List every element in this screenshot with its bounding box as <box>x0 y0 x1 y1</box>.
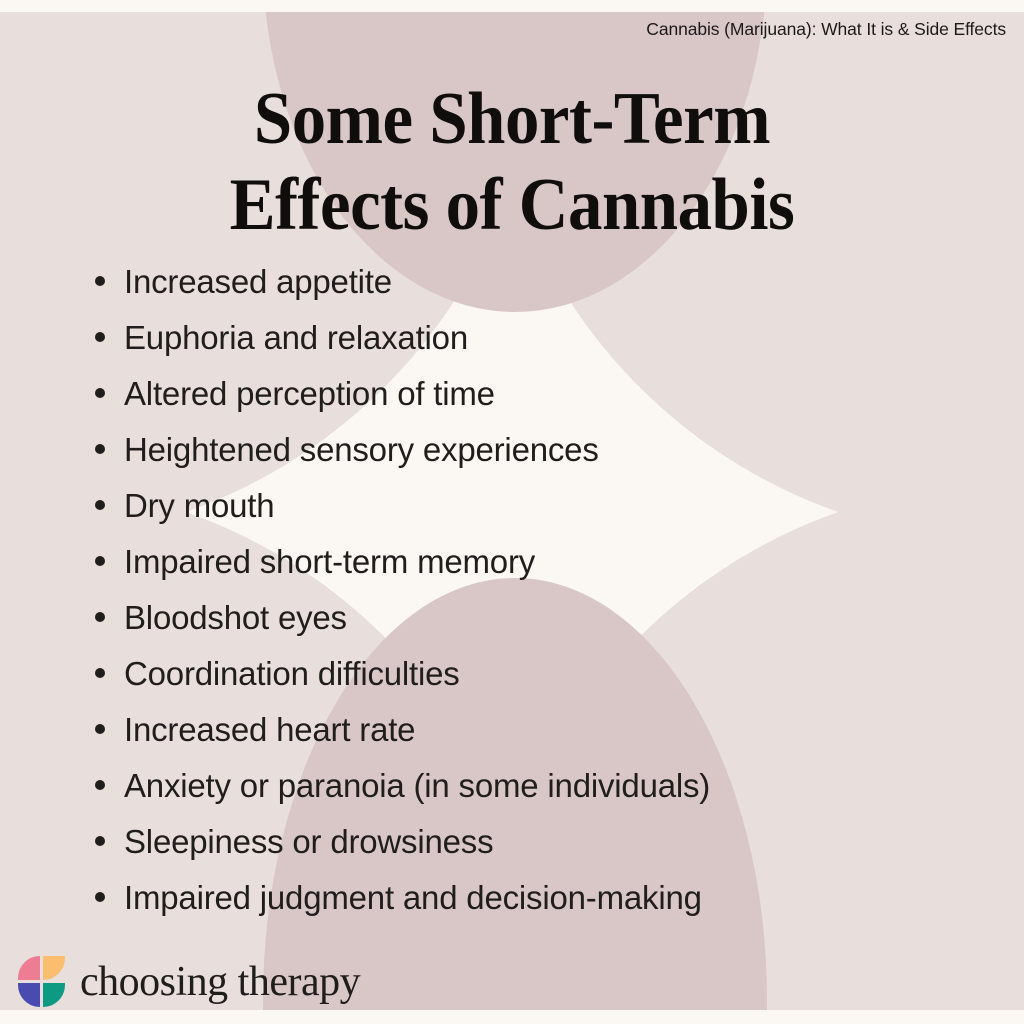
list-item-label: Sleepiness or drowsiness <box>124 825 493 858</box>
list-item: Impaired judgment and decision-making <box>92 869 992 925</box>
list-item: Dry mouth <box>92 477 992 533</box>
bullet-icon <box>95 724 105 734</box>
list-item-label: Increased heart rate <box>124 713 415 746</box>
list-item-label: Coordination difficulties <box>124 657 460 690</box>
list-item: Increased appetite <box>92 253 992 309</box>
list-item-label: Heightened sensory experiences <box>124 433 599 466</box>
bullet-icon <box>95 332 105 342</box>
bullet-icon <box>95 780 105 790</box>
bullet-icon <box>95 668 105 678</box>
list-item: Heightened sensory experiences <box>92 421 992 477</box>
list-item-label: Bloodshot eyes <box>124 601 347 634</box>
list-item-label: Anxiety or paranoia (in some individuals… <box>124 769 710 802</box>
bullet-icon <box>95 276 105 286</box>
bullet-icon <box>95 892 105 902</box>
bullet-icon <box>95 388 105 398</box>
bullet-icon <box>95 556 105 566</box>
list-item: Euphoria and relaxation <box>92 309 992 365</box>
bullet-icon <box>95 836 105 846</box>
list-item-label: Impaired judgment and decision-making <box>124 881 702 914</box>
mark-quadrant-bottom-left <box>18 983 40 1007</box>
mark-quadrant-top-right <box>43 956 65 980</box>
list-item: Increased heart rate <box>92 701 992 757</box>
brand-name: choosing therapy <box>80 961 360 1003</box>
page-title: Some Short-Term Effects of Cannabis <box>0 76 1024 248</box>
brand-logo: choosing therapy <box>18 956 360 1008</box>
page-title-line-2: Effects of Cannabis <box>36 162 988 248</box>
list-item-label: Dry mouth <box>124 489 274 522</box>
list-item: Anxiety or paranoia (in some individuals… <box>92 757 992 813</box>
source-caption: Cannabis (Marijuana): What It is & Side … <box>646 19 1006 40</box>
list-item: Bloodshot eyes <box>92 589 992 645</box>
infographic-canvas: Cannabis (Marijuana): What It is & Side … <box>0 0 1024 1024</box>
choosing-therapy-mark-icon <box>18 956 66 1008</box>
mark-quadrant-bottom-right <box>43 983 65 1007</box>
list-item-label: Increased appetite <box>124 265 392 298</box>
list-item: Altered perception of time <box>92 365 992 421</box>
bullet-icon <box>95 444 105 454</box>
list-item: Impaired short-term memory <box>92 533 992 589</box>
list-item-label: Euphoria and relaxation <box>124 321 468 354</box>
mark-quadrant-top-left <box>18 956 40 980</box>
effects-list: Increased appetite Euphoria and relaxati… <box>92 253 992 925</box>
bullet-icon <box>95 612 105 622</box>
list-item: Sleepiness or drowsiness <box>92 813 992 869</box>
list-item: Coordination difficulties <box>92 645 992 701</box>
list-item-label: Altered perception of time <box>124 377 495 410</box>
bullet-icon <box>95 500 105 510</box>
list-item-label: Impaired short-term memory <box>124 545 535 578</box>
page-title-line-1: Some Short-Term <box>36 76 988 162</box>
